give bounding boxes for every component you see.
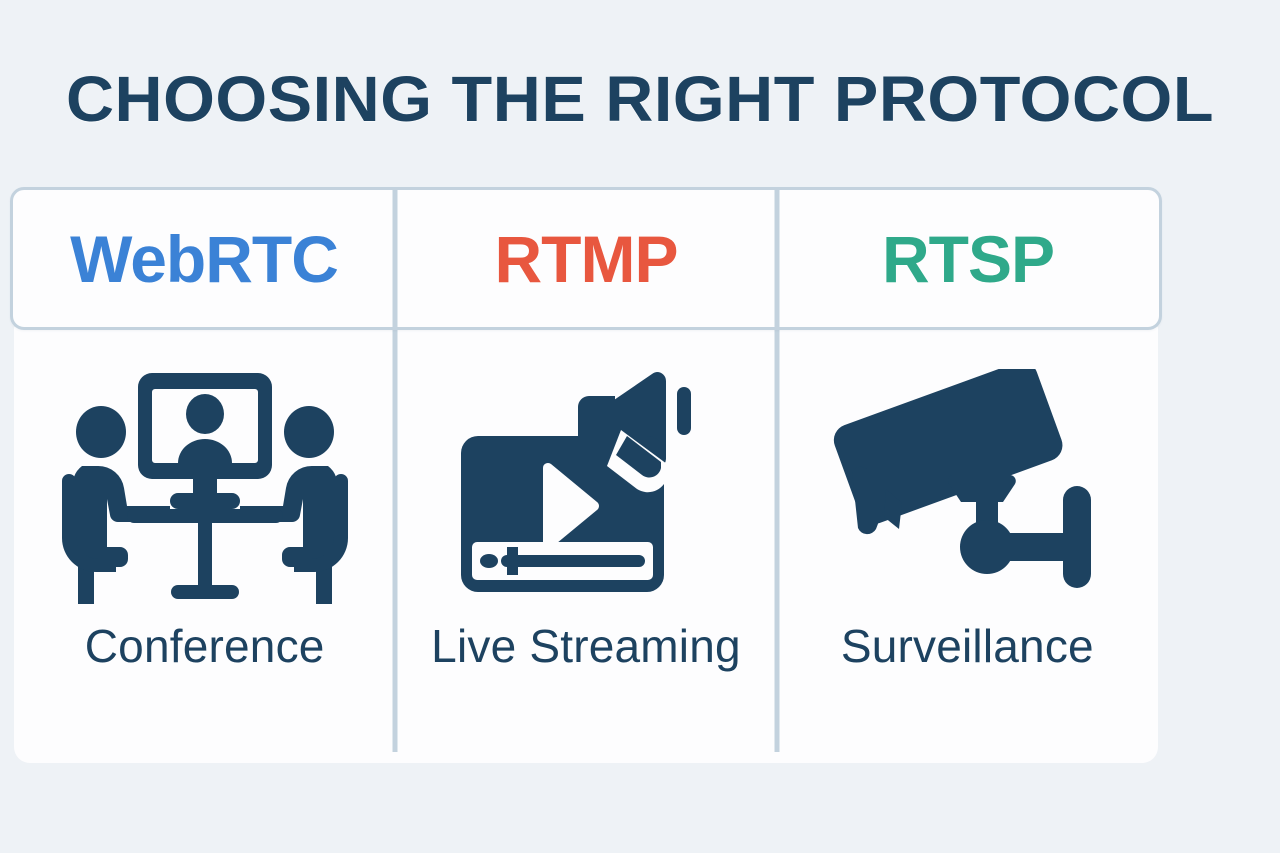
video-conference-icon: [55, 361, 355, 611]
use-case-label-surveillance: Surveillance: [841, 619, 1094, 673]
cctv-camera-icon: [817, 361, 1117, 611]
header-cell-webrtc: WebRTC: [13, 190, 395, 327]
protocol-name-rtsp: RTSP: [882, 226, 1054, 292]
header-cell-rtmp: RTMP: [395, 190, 777, 327]
protocol-name-rtmp: RTMP: [495, 226, 678, 292]
protocol-comparison-table: WebRTC RTMP RTSP: [10, 187, 1162, 763]
protocol-body-row: Conference: [14, 327, 1158, 763]
body-cell-rtmp: Live Streaming: [395, 327, 776, 763]
use-case-label-conference: Conference: [85, 619, 325, 673]
body-cell-webrtc: Conference: [14, 327, 395, 763]
body-cell-rtsp: Surveillance: [777, 327, 1158, 763]
header-cell-rtsp: RTSP: [777, 190, 1159, 327]
protocol-name-webrtc: WebRTC: [70, 226, 338, 292]
protocol-header-row: WebRTC RTMP RTSP: [10, 187, 1162, 330]
video-player-megaphone-icon: [436, 361, 736, 611]
page-title: CHOOSING THE RIGHT PROTOCOL: [0, 62, 1280, 136]
use-case-label-live-streaming: Live Streaming: [431, 619, 741, 673]
